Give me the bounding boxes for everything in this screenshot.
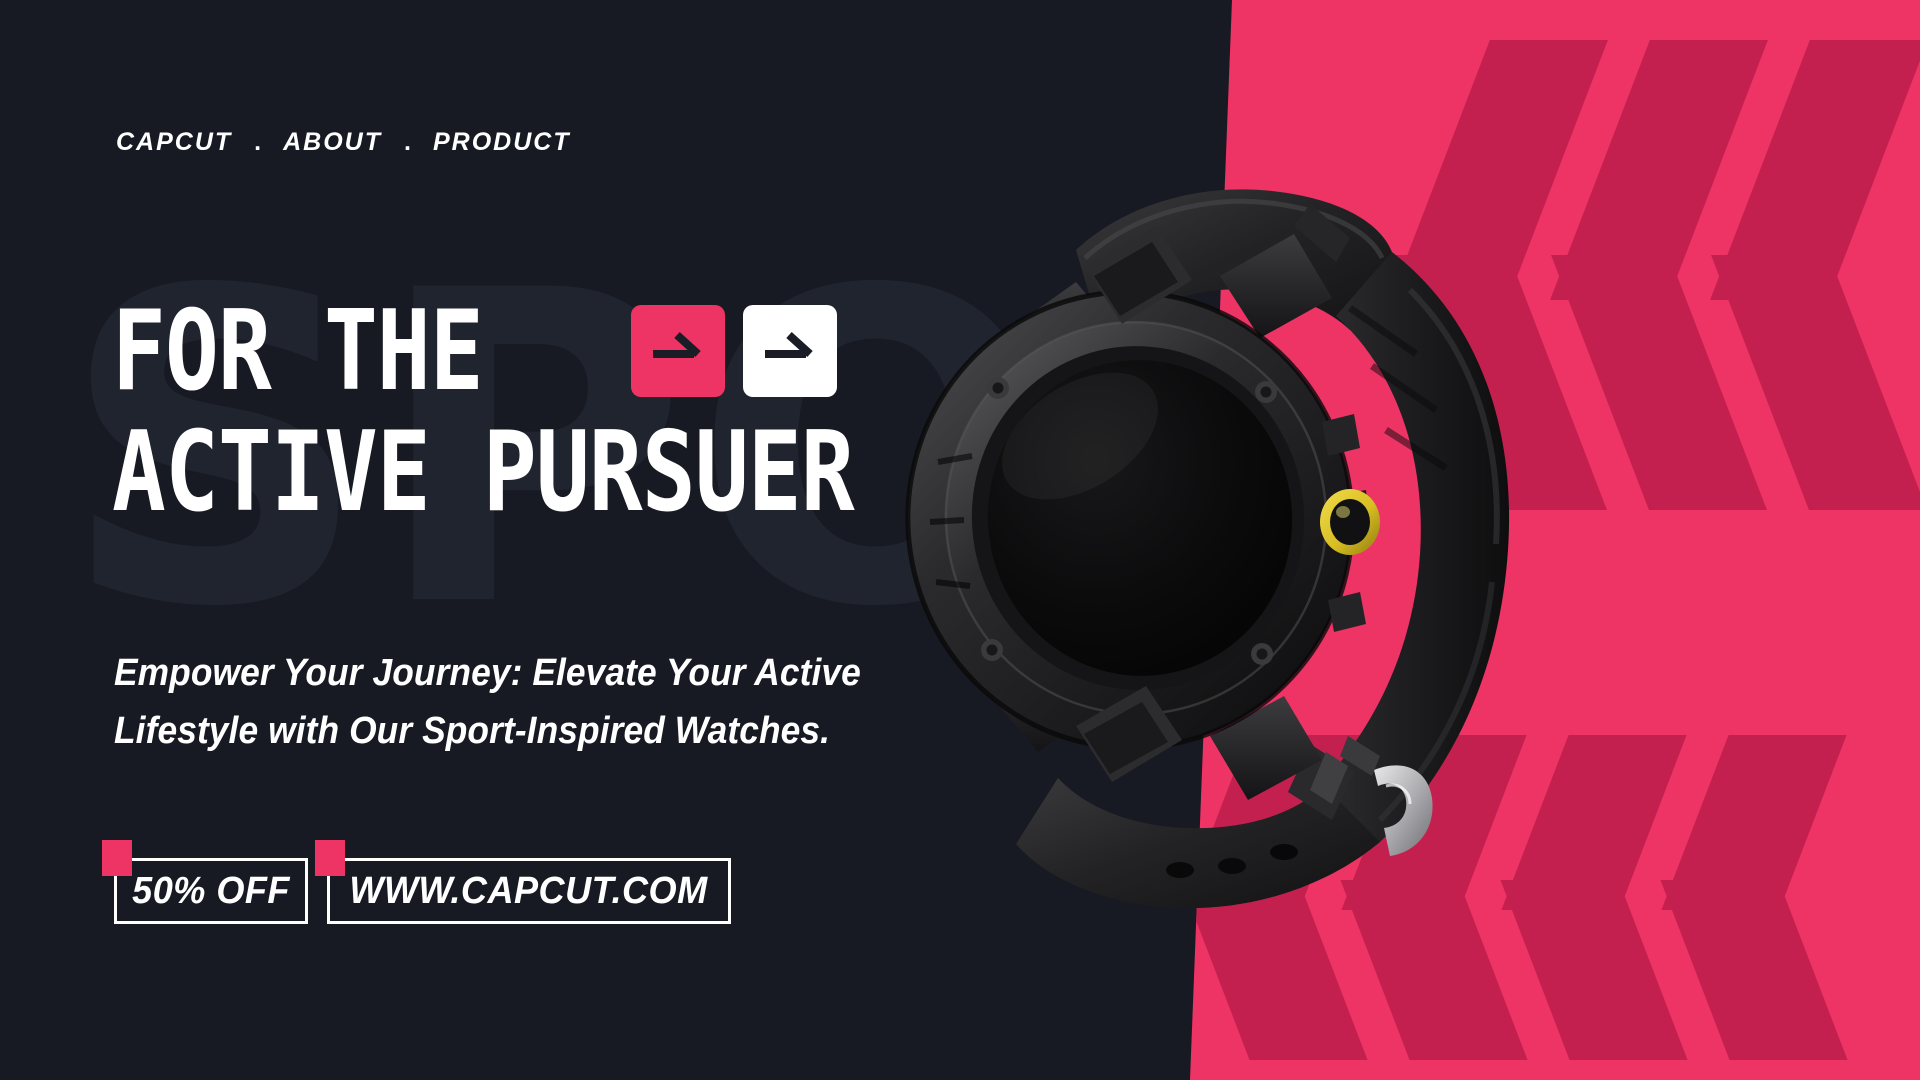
discount-badge-label: 50% OFF xyxy=(132,870,290,913)
nav-item-about[interactable]: ABOUT xyxy=(283,128,382,157)
headline-block: FOR THE xyxy=(112,303,975,520)
subtitle-block: Empower Your Journey: Elevate Your Activ… xyxy=(114,645,861,761)
main-navigation: CAPCUT . ABOUT . PRODUCT xyxy=(116,128,571,157)
website-badge[interactable]: WWW.CAPCUT.COM xyxy=(327,858,731,924)
nav-item-capcut[interactable]: CAPCUT xyxy=(116,128,232,157)
headline-line-2: ACTIVE PURSUER xyxy=(112,421,854,524)
badge-corner-accent xyxy=(102,840,132,876)
watch-crown-button xyxy=(1320,489,1380,555)
subtitle-line-2: Lifestyle with Our Sport-Inspired Watche… xyxy=(114,703,861,761)
promo-banner: SPO CAPCUT . ABOUT . PRODUCT FOR THE xyxy=(0,0,1920,1080)
subtitle-line-1: Empower Your Journey: Elevate Your Activ… xyxy=(114,645,861,703)
badge-row: 50% OFF WWW.CAPCUT.COM xyxy=(114,858,731,924)
arrow-right-icon xyxy=(762,329,818,373)
website-badge-wrapper: WWW.CAPCUT.COM xyxy=(327,858,731,924)
headline-row-1: FOR THE xyxy=(112,303,975,400)
next-button-secondary[interactable] xyxy=(743,305,837,397)
headline-line-1: FOR THE xyxy=(112,300,483,403)
nav-separator: . xyxy=(232,128,283,157)
website-badge-label: WWW.CAPCUT.COM xyxy=(350,870,708,913)
badge-corner-accent xyxy=(315,840,345,876)
content-column: CAPCUT . ABOUT . PRODUCT FOR THE xyxy=(0,0,1100,1080)
discount-badge-wrapper: 50% OFF xyxy=(114,858,308,924)
arrow-button-group xyxy=(631,305,837,397)
arrow-right-icon xyxy=(650,329,706,373)
nav-item-product[interactable]: PRODUCT xyxy=(433,128,571,157)
nav-separator: . xyxy=(382,128,433,157)
next-button-primary[interactable] xyxy=(631,305,725,397)
chevron-stripe xyxy=(1660,880,1847,1060)
discount-badge[interactable]: 50% OFF xyxy=(114,858,308,924)
